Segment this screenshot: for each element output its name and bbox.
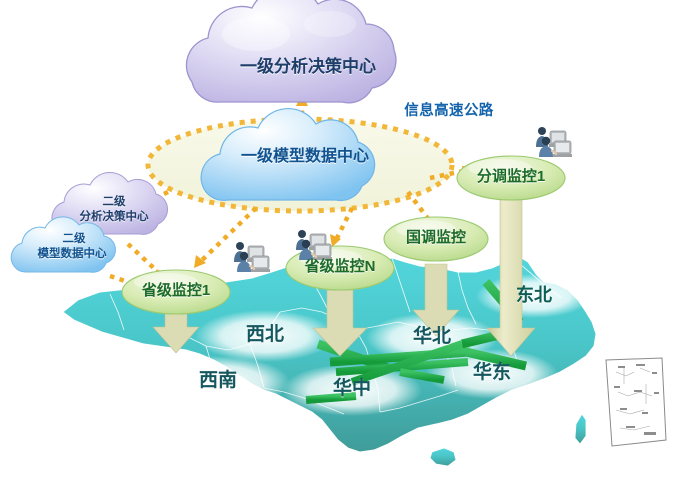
operator-icon-provincial-1 <box>226 240 272 274</box>
pill-provincial-monitor-1[interactable] <box>122 270 230 314</box>
pill-national-dispatch-monitor[interactable] <box>384 217 488 261</box>
operator-icon-branch <box>528 125 574 159</box>
cloud-primary-analysis-decision-center <box>186 0 396 103</box>
diagram-canvas: 一级分析决策中心 一级模型数据中心 信息高速公路 二级 分析决策中心 二级 模型… <box>0 0 700 482</box>
china-map-layer <box>0 0 700 482</box>
south-china-sea-inset <box>606 358 666 446</box>
operator-icon-provincial-n <box>288 228 334 262</box>
pill-branch-dispatch-monitor-1[interactable] <box>457 156 565 200</box>
